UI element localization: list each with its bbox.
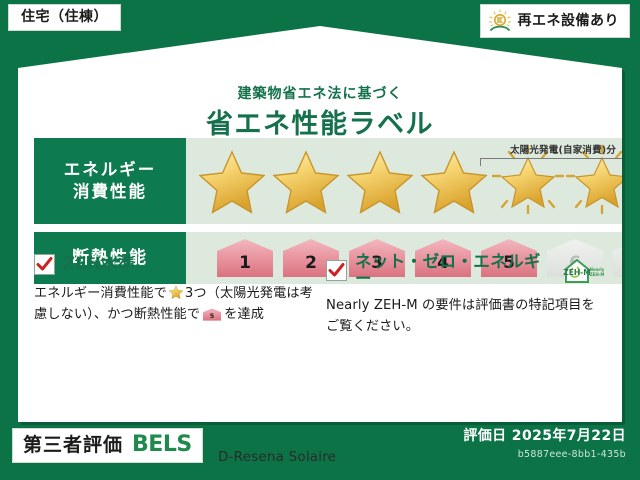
energy-label-line1: エネルギー [64,159,157,181]
zeh-panel-title: ZEH水準 [63,256,135,273]
star-rating [196,144,638,218]
zeh-body-part1: エネルギー消費性能で [34,286,167,301]
renewable-energy-badge: 再エネ設備あり [480,4,631,38]
footer-bar: 第三者評価 BELS D-Resena Solaire 評価日 2025年7月2… [0,422,640,480]
evaluation-info: 評価日 2025年7月22日 b5887eee-8bb1-435b [463,428,626,460]
nze-panel-body: Nearly ZEH-M の要件は評価書の特記項目をご覧ください。 [326,296,606,338]
bels-label: BELS [132,434,192,456]
zeh-panel-body: エネルギー消費性能で3つ（太陽光発電は考慮しない）、かつ断熱性能で5を達成 [34,284,314,326]
page-title: 省エネ性能ラベル [18,109,622,140]
energy-stars-band: 太陽光発電(自家消費)分 [186,138,638,224]
title-block: 建築物省エネ法に基づく 省エネ性能ラベル [18,86,622,140]
energy-performance-label: エネルギー 消費性能 [34,138,186,224]
svg-text:7: 7 [635,253,640,273]
header-bar: 住宅（住棟） 再エネ設備あり [0,0,640,40]
svg-text:ZEH-M: ZEH-M [590,272,605,277]
sun-icon [487,9,513,33]
star-filled-2 [270,144,342,218]
bels-evaluation-box: 第三者評価 BELS [12,428,203,463]
zeh-checkbox[interactable] [34,254,55,275]
star-solar-6 [566,144,638,218]
panel-net-zero-energy: ネット・ゼロ・エネルギー ZEH-M Nearly ZEH-M Nearly Z… [326,254,606,338]
building-type-tag: 住宅（住棟） [8,4,121,31]
zeh-body-star-text: 3つ（太陽光発電 [185,286,287,301]
zeh-m-logo-icon: ZEH-M Nearly ZEH-M [562,258,606,284]
building-name: D-Resena Solaire [218,449,336,465]
renewable-badge-label: 再エネ設備あり [518,14,620,28]
panel-zeh-standard: ZEH水準 エネルギー消費性能で3つ（太陽光発電は考慮しない）、かつ断熱性能で5… [34,254,314,338]
energy-performance-row: エネルギー 消費性能 [34,138,606,224]
nze-panel-header: ネット・ゼロ・エネルギー ZEH-M Nearly ZEH-M [326,254,606,287]
zeh-panel-header: ZEH水準 [34,254,314,275]
nze-panel-title: ネット・ゼロ・エネルギー [355,254,550,287]
inline-level-badge: 5 [202,307,222,322]
energy-label-line2: 消費性能 [73,181,147,203]
star-filled-1 [196,144,268,218]
star-solar-5 [492,144,564,218]
svg-text:5: 5 [210,312,215,320]
star-filled-3 [344,144,416,218]
svg-text:ZEH-M: ZEH-M [563,268,590,277]
label-card: 建築物省エネ法に基づく 省エネ性能ラベル エネルギー 消費性能 [18,26,622,422]
third-party-label: 第三者評価 [23,436,123,455]
insulation-badge-7: 7 [610,237,640,279]
nze-checkbox[interactable] [326,260,347,281]
evaluation-date: 評価日 2025年7月22日 [463,428,626,445]
info-panels: ZEH水準 エネルギー消費性能で3つ（太陽光発電は考慮しない）、かつ断熱性能で5… [34,254,606,338]
zeh-body-part3: を達成 [224,307,264,322]
star-filled-4 [418,144,490,218]
title-subtitle: 建築物省エネ法に基づく [18,86,622,103]
inline-star-icon [168,284,184,300]
evaluation-id: b5887eee-8bb1-435b [463,449,626,460]
